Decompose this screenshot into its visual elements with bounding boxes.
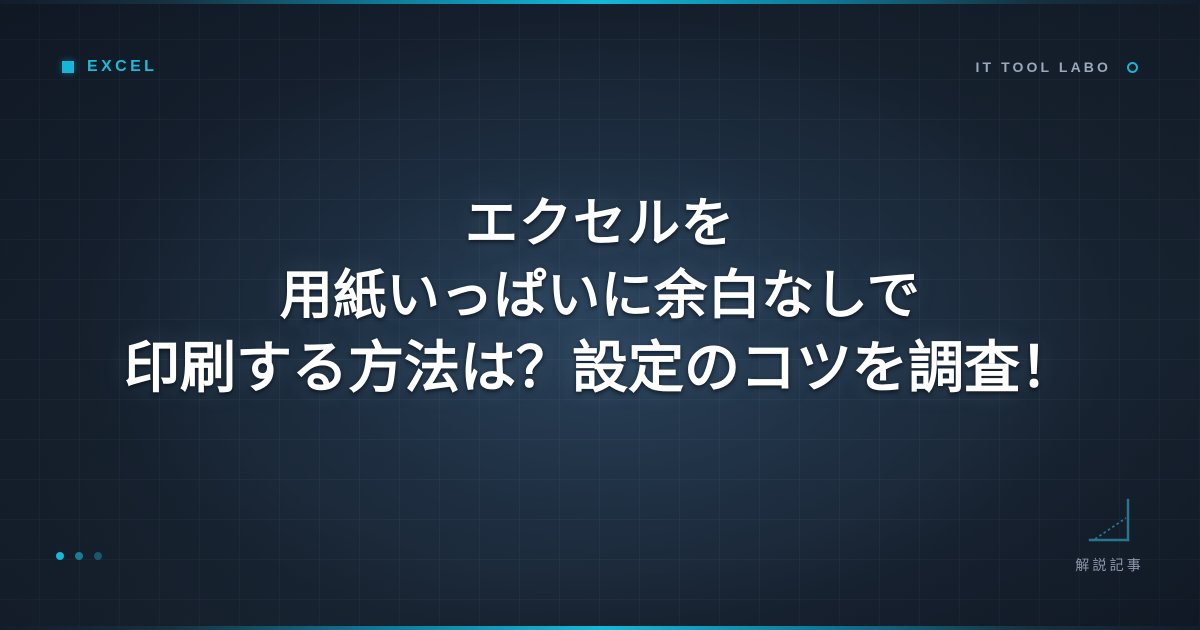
title-line-1: エクセルを [465,188,735,260]
line-chart-icon [1087,496,1133,544]
brand-label: EXCEL [87,59,157,75]
site-name: IT TOOL LABO [976,60,1111,74]
title-line-2: 用紙いっぱいに余白なしで [280,260,920,332]
article-type-badge: 解説記事 [1075,496,1144,572]
bottom-accent-bar [0,626,1200,630]
brand-badge: EXCEL [62,59,157,75]
circle-outline-icon [1127,62,1138,73]
dot-indicator-row [56,552,102,560]
top-accent-bar [0,0,1200,4]
dot-indicator-3 [94,552,102,560]
article-type-label: 解説記事 [1075,558,1144,572]
header: EXCEL IT TOOL LABO [62,54,1138,80]
dot-indicator-1 [56,552,64,560]
page-title: エクセルを 用紙いっぱいに余白なしで 印刷する方法は？設定のコツを調査！ [0,188,1200,406]
square-icon [62,61,74,73]
dot-indicator-2 [75,552,83,560]
title-line-3: 印刷する方法は？設定のコツを調査！ [124,332,1076,406]
thumbnail-card: EXCEL IT TOOL LABO エクセルを 用紙いっぱいに余白なしで 印刷… [0,0,1200,630]
site-identity: IT TOOL LABO [976,60,1138,74]
